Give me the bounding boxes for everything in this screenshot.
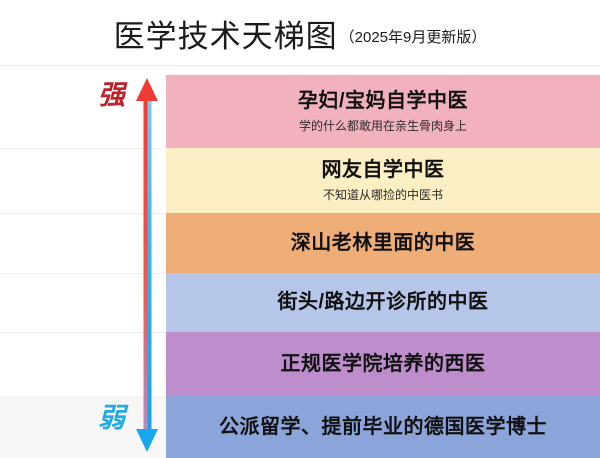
tier-band[interactable]: 孕妇/宝妈自学中医学的什么都敢用在亲生骨肉身上 xyxy=(166,75,600,148)
tier-band-title: 孕妇/宝妈自学中医 xyxy=(298,90,468,113)
tier-band-list: 孕妇/宝妈自学中医学的什么都敢用在亲生骨肉身上网友自学中医不知道从哪捡的中医书深… xyxy=(166,75,600,458)
tier-list-canvas: 医学技术天梯图 （2025年9月更新版） xyxy=(0,0,600,458)
tier-band-title: 网友自学中医 xyxy=(322,159,445,182)
axis-label-strong: 强 xyxy=(98,82,125,109)
axis-label-weak: 弱 xyxy=(98,405,125,432)
tier-band[interactable]: 正规医学院培养的西医 xyxy=(166,332,600,396)
tier-band-title: 公派留学、提前毕业的德国医学博士 xyxy=(219,416,547,439)
tier-band[interactable]: 深山老林里面的中医 xyxy=(166,213,600,273)
tier-band-subtitle: 学的什么都敢用在亲生骨肉身上 xyxy=(299,120,467,133)
tier-band-title: 深山老林里面的中医 xyxy=(291,232,476,255)
arrow-up-icon xyxy=(136,78,158,101)
tier-band[interactable]: 公派留学、提前毕业的德国医学博士 xyxy=(166,396,600,458)
page-title-subtitle: （2025年9月更新版） xyxy=(340,26,487,47)
tier-band-subtitle: 不知道从哪捡的中医书 xyxy=(323,189,443,202)
tier-band[interactable]: 网友自学中医不知道从哪捡的中医书 xyxy=(166,148,600,213)
tier-band-title: 正规医学院培养的西医 xyxy=(281,353,486,376)
arrow-down-icon xyxy=(136,429,158,452)
page-title: 医学技术天梯图 （2025年9月更新版） xyxy=(0,0,600,66)
page-title-main: 医学技术天梯图 xyxy=(114,11,338,56)
strength-axis xyxy=(128,74,166,456)
tier-band[interactable]: 街头/路边开诊所的中医 xyxy=(166,273,600,332)
tier-band-title: 街头/路边开诊所的中医 xyxy=(277,291,488,314)
